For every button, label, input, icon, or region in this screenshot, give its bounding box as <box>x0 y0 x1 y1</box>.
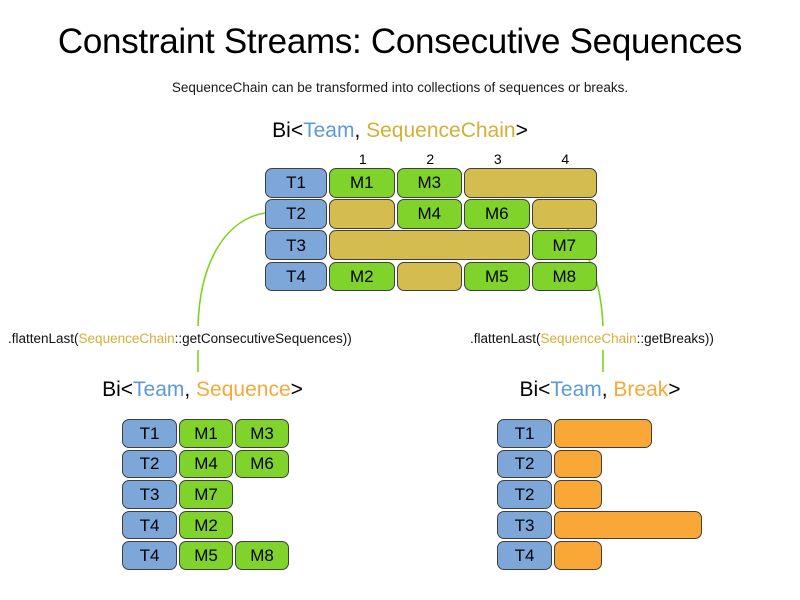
break-team-chip: T3 <box>497 511 552 540</box>
break-bar <box>554 511 702 540</box>
break-team-chip: T2 <box>497 450 552 479</box>
break-bar <box>554 541 602 570</box>
break-team-chip: T2 <box>497 480 552 509</box>
break-team-chip-label: T2 <box>515 455 535 472</box>
break-team-chip-label: T3 <box>515 517 535 534</box>
break-bar <box>554 419 652 448</box>
break-bar <box>554 450 602 479</box>
break-team-chip-label: T2 <box>515 486 535 503</box>
break-team-chip-label: T1 <box>515 425 535 442</box>
break-team-chip-label: T4 <box>515 547 535 564</box>
break-team-chip: T4 <box>497 541 552 570</box>
break-team-chip: T1 <box>497 419 552 448</box>
break-bar <box>554 480 602 509</box>
breaks-grid: T1T2T2T3T4 <box>0 0 800 600</box>
